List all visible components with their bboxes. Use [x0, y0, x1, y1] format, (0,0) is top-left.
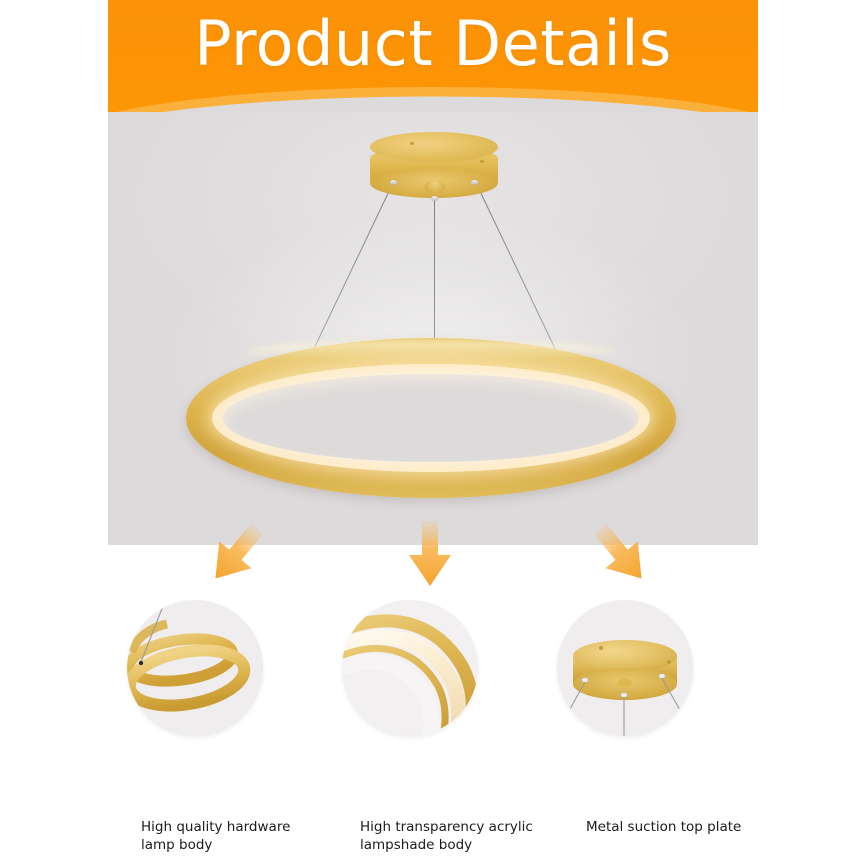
caption-line: Metal suction top plate [586, 818, 741, 836]
detail-image-hardware-lamp-body [127, 600, 263, 736]
caption-acrylic-lampshade: High transparency acrylic lampshade body [360, 818, 533, 854]
caption-line: lamp body [141, 836, 290, 854]
ceiling-canopy-plate [370, 132, 498, 210]
canopy-screw [410, 142, 414, 145]
ring-inner-opening [223, 374, 639, 462]
cable-anchor [390, 180, 397, 185]
detail-circle-hardware-lamp-body [127, 600, 263, 736]
detail-image-metal-top-plate [557, 600, 693, 736]
page-title: Product Details [108, 8, 758, 79]
caption-line: lampshade body [360, 836, 533, 854]
caption-line: High transparency acrylic [360, 818, 533, 836]
detail-circle-metal-top-plate [557, 600, 693, 736]
caption-line: High quality hardware [141, 818, 290, 836]
main-product-stage [108, 112, 758, 545]
cable-anchor [431, 196, 438, 201]
canopy-top-face [370, 132, 498, 162]
led-ring-lamp [186, 338, 676, 498]
canopy-screw [480, 160, 484, 163]
detail-circle-acrylic-lampshade [342, 600, 478, 736]
caption-metal-top-plate: Metal suction top plate [586, 818, 741, 836]
arrow-center [408, 521, 452, 587]
product-details-infographic: Product Details [0, 0, 868, 868]
canopy-center-nub [425, 180, 445, 193]
caption-hardware-lamp-body: High quality hardware lamp body [141, 818, 290, 854]
ring-top-highlight [246, 340, 616, 362]
detail-image-acrylic-lampshade [342, 600, 478, 736]
cable-anchor [471, 180, 478, 185]
header-banner: Product Details [108, 0, 758, 130]
